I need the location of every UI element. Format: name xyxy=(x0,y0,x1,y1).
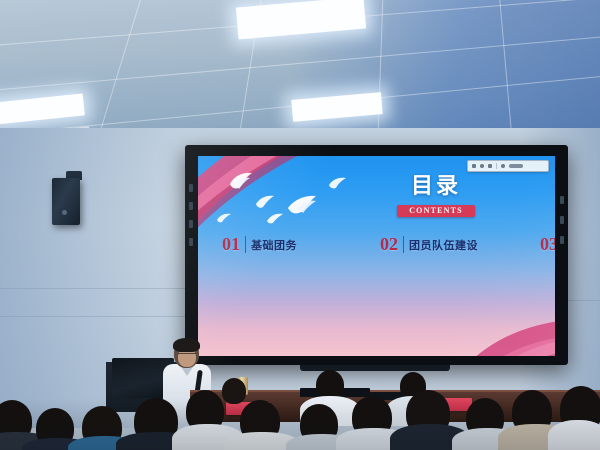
slide-toc-list: 01 基础团务 02 团员队伍建设 03 团干部队伍建设 04 组织体系建设 0… xyxy=(222,226,540,263)
display-button[interactable] xyxy=(189,238,193,246)
presenter-glasses xyxy=(178,353,196,358)
speaker-logo-icon xyxy=(62,210,67,215)
toc-item: 02 团员队伍建设 xyxy=(380,226,540,263)
audience-shoulders xyxy=(548,420,600,450)
display-port[interactable] xyxy=(560,236,564,244)
slide-title-block: 目录 CONTENTS xyxy=(376,168,496,218)
display-port[interactable] xyxy=(560,196,564,204)
display-button[interactable] xyxy=(189,220,193,228)
display-button[interactable] xyxy=(189,202,193,210)
screenshot-stage: 目录 CONTENTS 01 基础团务 02 团员队伍建设 03 团干部队伍建设… xyxy=(0,0,600,450)
toc-label: 团员队伍建设 xyxy=(409,237,478,253)
toc-label: 基础团务 xyxy=(251,237,297,253)
pointer-icon[interactable] xyxy=(472,164,476,168)
presenter-hair xyxy=(173,338,200,352)
pen-icon[interactable] xyxy=(480,164,484,168)
contents-badge: CONTENTS xyxy=(397,205,475,217)
display-button[interactable] xyxy=(189,184,193,192)
presentation-screen[interactable]: 目录 CONTENTS 01 基础团务 02 团员队伍建设 03 团干部队伍建设… xyxy=(198,156,555,356)
toc-number: 01 xyxy=(222,234,240,255)
floating-annotation-toolbar[interactable] xyxy=(467,160,549,172)
toc-number: 03 xyxy=(540,234,555,255)
slide-title: 目录 xyxy=(376,168,496,200)
toc-divider xyxy=(245,236,246,253)
toolbar-divider xyxy=(496,163,497,169)
display-port[interactable] xyxy=(560,216,564,224)
toolbar-label xyxy=(509,164,523,168)
toc-divider xyxy=(403,236,404,253)
display-stand xyxy=(300,365,450,371)
ribbon-decoration-bottom-right xyxy=(443,288,555,356)
audience-head xyxy=(222,378,246,404)
toc-item: 03 团干部队伍建设 xyxy=(540,226,555,263)
shape-icon[interactable] xyxy=(501,164,505,168)
wall-speaker xyxy=(52,178,80,225)
toc-item: 01 基础团务 xyxy=(222,226,380,263)
eraser-icon[interactable] xyxy=(488,164,492,168)
toc-number: 02 xyxy=(380,234,398,255)
